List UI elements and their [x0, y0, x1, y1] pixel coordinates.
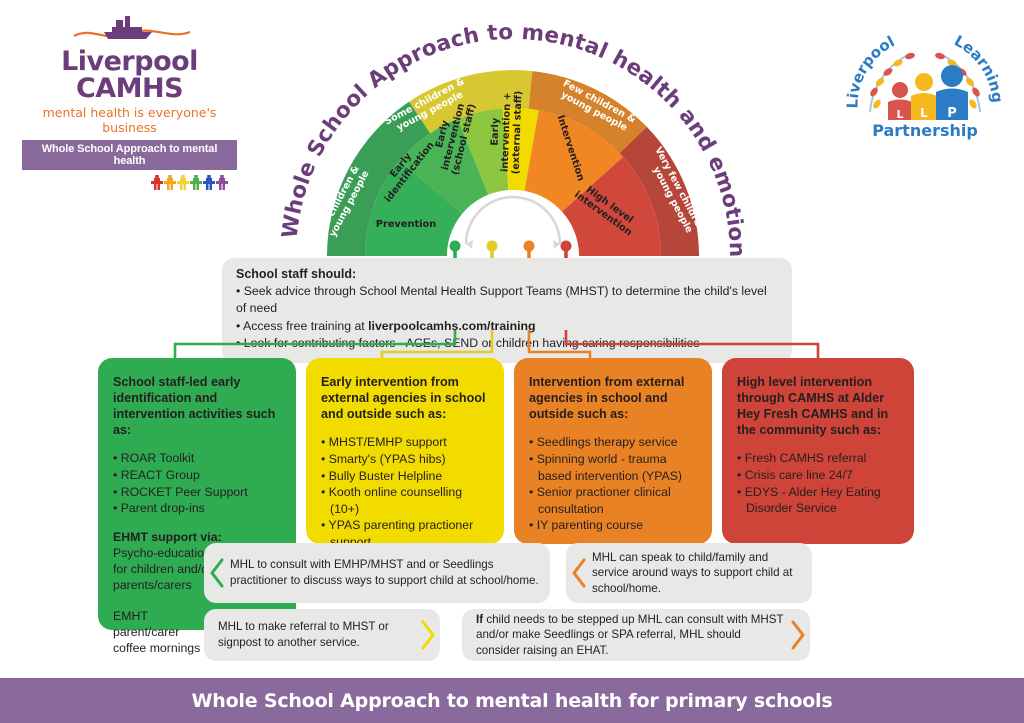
column-orange-list: Seedlings therapy service Spinning world…	[529, 434, 697, 534]
column-yellow-heading: Early intervention from external agencie…	[321, 374, 489, 422]
list-item: Kooth online counselling (10+)	[321, 484, 489, 517]
ship-icon	[22, 14, 237, 46]
list-item: Parent drop-ins	[113, 500, 281, 517]
camhs-logo-title: Liverpool CAMHS	[22, 48, 237, 102]
svg-text:P: P	[947, 106, 957, 121]
callout-mhl-referral: MHL to make referral to MHST or signpost…	[204, 609, 440, 661]
list-item: IY parenting course	[529, 517, 697, 534]
list-item: ROAR Toolkit	[113, 450, 281, 467]
column-green-heading: School staff-led early identification an…	[113, 374, 281, 438]
staff-box-heading: School staff should:	[236, 267, 778, 281]
callout-mhl-consult: MHL to consult with EMHP/MHST and or See…	[204, 543, 550, 603]
column-yellow-list: MHST/EMHP support Smarty's (YPAS hibs) B…	[321, 434, 489, 550]
llp-figure-yellow: L	[911, 73, 937, 120]
llp-figure-red: L	[888, 82, 912, 121]
infographic-page: Liverpool CAMHS mental health is everyon…	[0, 0, 1024, 723]
column-red-heading: High level intervention through CAMHS at…	[737, 374, 899, 438]
people-chain-icon	[22, 174, 237, 194]
column-red-list: Fresh CAMHS referral Crisis care line 24…	[737, 450, 899, 516]
camhs-logo-band: Whole School Approach to mental health	[22, 140, 237, 170]
svg-text:L: L	[896, 108, 903, 121]
svg-text:L: L	[920, 106, 928, 120]
callout-mhl-speak: MHL can speak to child/family and servic…	[566, 543, 812, 603]
list-item: MHST/EMHP support	[321, 434, 489, 451]
callout-stepped-up: If child needs to be stepped up MHL can …	[462, 609, 810, 661]
column-green-ehmt-heading: EHMT support via:	[113, 530, 222, 544]
llp-word-partnership: Partnership	[872, 121, 978, 140]
column-red-high-level-intervention: High level intervention through CAMHS at…	[722, 358, 914, 544]
whole-school-approach-arc: Whole School Approach to mental health a…	[278, 14, 748, 264]
list-item: Bully Buster Helpline	[321, 468, 489, 485]
liverpool-camhs-logo: Liverpool CAMHS mental health is everyon…	[22, 14, 237, 194]
list-item: Fresh CAMHS referral	[737, 450, 899, 467]
list-item: Crisis care line 24/7	[737, 467, 899, 484]
chevron-left-icon	[204, 558, 230, 588]
chevron-right-icon	[784, 620, 810, 650]
callout-3-text: MHL to make referral to MHST or signpost…	[204, 619, 414, 650]
callout-1-text: MHL to consult with EMHP/MHST and or See…	[230, 557, 550, 588]
footer-banner: Whole School Approach to mental health f…	[0, 678, 1024, 723]
chevron-left-icon	[566, 558, 592, 588]
callout-4-text: child needs to be stepped up MHL can con…	[476, 613, 783, 657]
callout-4-text-wrap: If child needs to be stepped up MHL can …	[462, 612, 784, 659]
liverpool-learning-partnership-logo: L L P Liverpool Learning Partnership	[840, 12, 1010, 142]
list-item: Smarty's (YPAS hibs)	[321, 451, 489, 468]
column-orange-heading: Intervention from external agencies in s…	[529, 374, 697, 422]
column-orange-intervention: Intervention from external agencies in s…	[514, 358, 712, 544]
camhs-logo-tagline: mental health is everyone's business	[22, 105, 237, 135]
column-yellow-early-intervention: Early intervention from external agencie…	[306, 358, 504, 544]
chevron-right-icon	[414, 620, 440, 650]
list-item: REACT Group	[113, 467, 281, 484]
list-item: ROCKET Peer Support	[113, 484, 281, 501]
column-green-list: ROAR Toolkit REACT Group ROCKET Peer Sup…	[113, 450, 281, 516]
list-item: EDYS - Alder Hey Eating Disorder Service	[737, 484, 899, 517]
list-item: Seedlings therapy service	[529, 434, 697, 451]
list-item: Senior practioner clinical consultation	[529, 484, 697, 517]
callout-2-text: MHL can speak to child/family and servic…	[592, 550, 812, 597]
list-item: Spinning world - trauma based interventi…	[529, 451, 697, 484]
footer-text: Whole School Approach to mental health f…	[192, 690, 833, 712]
arc-inner-label-prevention: Prevention	[376, 219, 436, 230]
